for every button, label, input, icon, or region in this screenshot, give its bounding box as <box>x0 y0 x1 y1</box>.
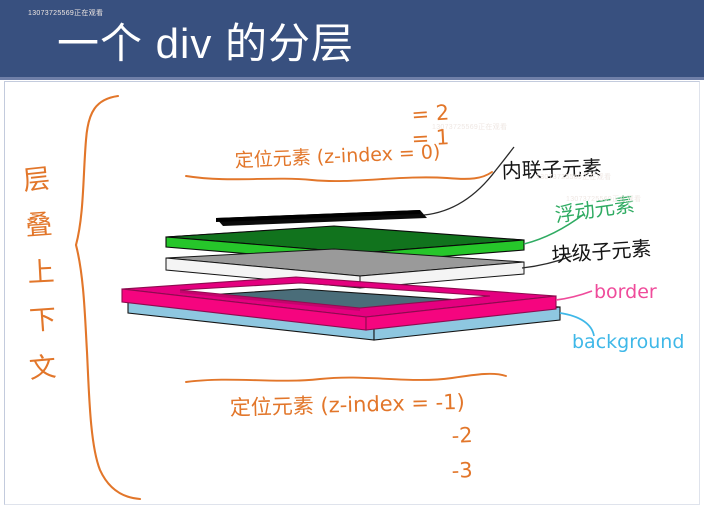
stacking-context-char-5: 文 <box>28 352 58 385</box>
watermark-right-upper: 13073725569正在观看 <box>536 172 611 182</box>
slide-root: 一个 div 的分层 13073725569正在观看 层 叠 上 下 文 = 2… <box>0 0 704 509</box>
z-index-value-minus2: -2 <box>451 423 473 448</box>
positioned-top-underline <box>186 172 492 181</box>
block-children-label: 块级子元素 <box>551 236 652 267</box>
positioned-bottom-overline <box>186 374 506 382</box>
positioned-element-bottom-label: 定位元素 (z-index = -1) <box>230 390 466 420</box>
layer-diagram: 层 叠 上 下 文 = 2 = 1 定位元素 (z-index = 0) 内联子… <box>0 0 704 509</box>
watermark-middle: 13073725569正在观看 <box>432 122 507 132</box>
layer-inline-children <box>216 210 427 226</box>
positioned-element-top-label: 定位元素 (z-index = 0) <box>234 141 441 172</box>
stacking-context-char-3: 上 <box>27 257 56 289</box>
stacking-context-char-4: 下 <box>28 304 57 337</box>
stacking-context-char-2: 叠 <box>24 209 53 242</box>
border-leader <box>556 291 592 300</box>
background-label: background <box>572 331 684 353</box>
border-label: border <box>594 281 657 303</box>
stacking-context-char-1: 层 <box>21 163 51 197</box>
z-index-value-minus3: -3 <box>451 458 473 483</box>
watermark-right-label: 13073725569正在观看 <box>566 194 641 204</box>
stacking-context-label: 层 叠 上 下 文 <box>21 163 57 385</box>
